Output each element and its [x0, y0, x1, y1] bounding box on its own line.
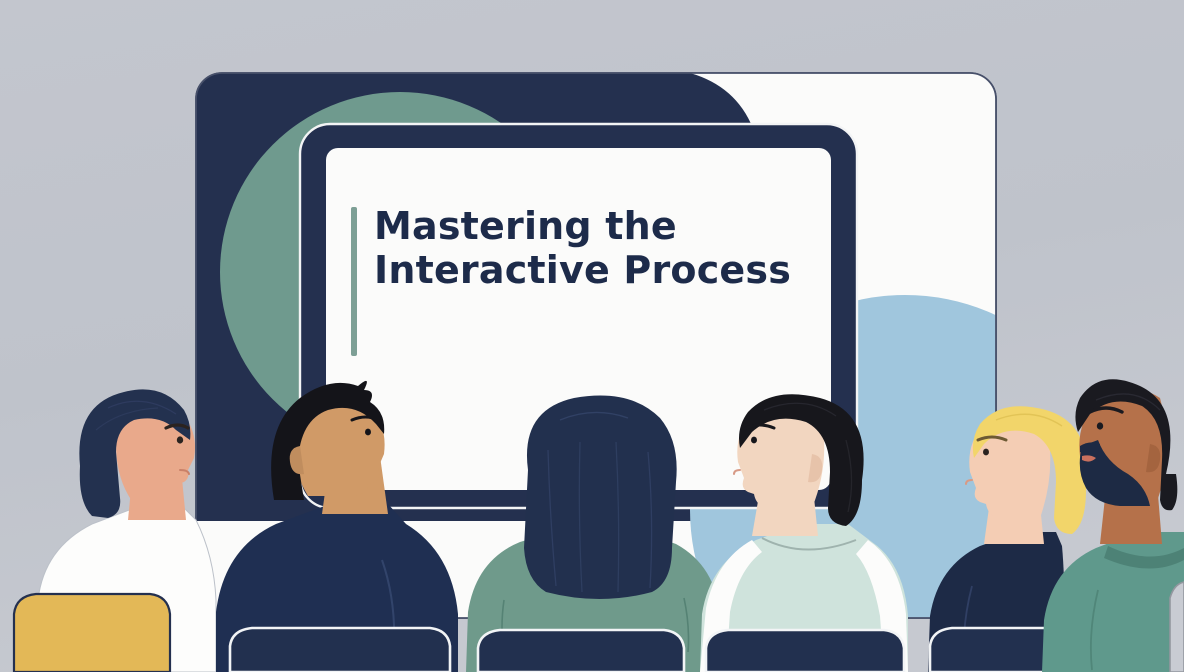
- person-4-chair: [706, 630, 904, 672]
- person-4-eye: [751, 437, 757, 444]
- illustration-canvas: Mastering the Interactive Process: [0, 0, 1184, 672]
- person-1-chair: [14, 594, 170, 672]
- person-1-eye: [177, 436, 183, 443]
- person-3-chair: [478, 630, 684, 672]
- person-5-eye: [983, 449, 989, 456]
- person-3-hair: [524, 396, 677, 600]
- person-6-chair: [1170, 582, 1184, 672]
- presentation-scene-illustration: [0, 0, 1184, 672]
- title-accent-bar: [351, 207, 357, 356]
- person-2-eye: [365, 429, 371, 436]
- person-6-eye: [1097, 422, 1103, 429]
- person-2-chair: [230, 628, 450, 672]
